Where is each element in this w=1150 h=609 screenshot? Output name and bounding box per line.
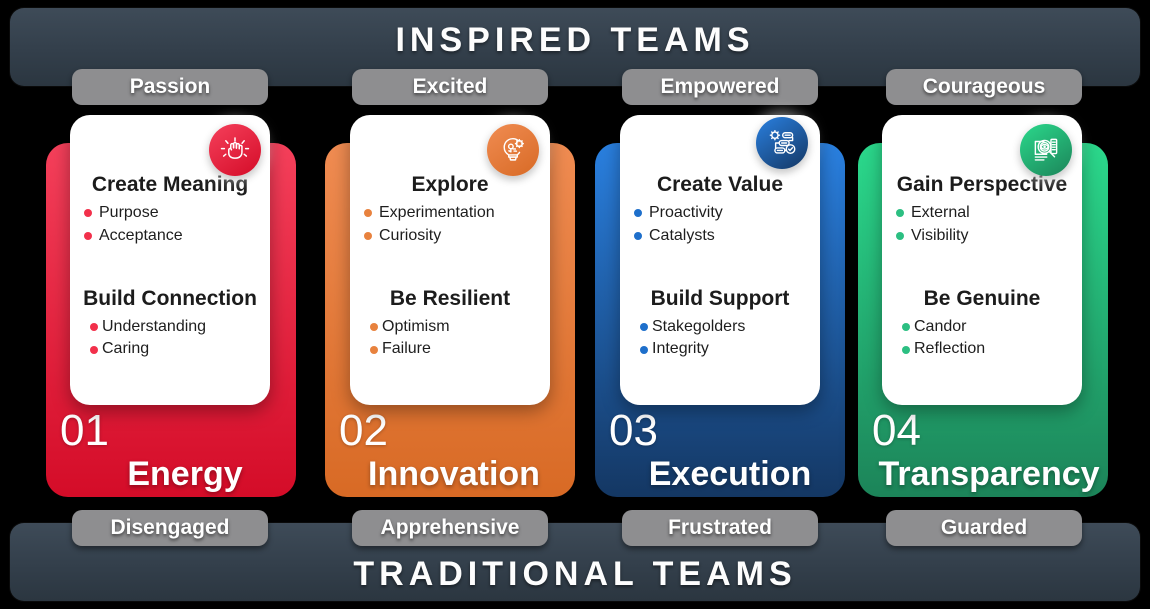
section-heading: Be Genuine bbox=[882, 287, 1082, 310]
top-state-pill: Courageous bbox=[886, 69, 1082, 105]
section-heading: Gain Perspective bbox=[882, 173, 1082, 196]
bullet-label: Understanding bbox=[102, 316, 206, 339]
bullet-item: Understanding bbox=[70, 316, 270, 339]
bottom-state-pill: Guarded bbox=[886, 510, 1082, 546]
bullet-item: Catalysts bbox=[620, 225, 820, 248]
bullet-item: Stakegolders bbox=[620, 316, 820, 339]
section-bullet-list: OptimismFailure bbox=[350, 316, 550, 361]
section-bullet-list: StakegoldersIntegrity bbox=[620, 316, 820, 361]
bullet-label: Proactivity bbox=[649, 202, 723, 225]
bullet-label: Stakegolders bbox=[652, 316, 745, 339]
bullet-item: Acceptance bbox=[70, 225, 270, 248]
bottom-state-pill: Disengaged bbox=[72, 510, 268, 546]
top-state-pill: Passion bbox=[72, 69, 268, 105]
bullet-dot-icon bbox=[90, 346, 98, 354]
bullet-dot-icon bbox=[902, 346, 910, 354]
card-number: 03 bbox=[609, 409, 658, 453]
card-number: 01 bbox=[60, 409, 109, 453]
section-bullet-list: CandorReflection bbox=[882, 316, 1082, 361]
bullet-label: Optimism bbox=[382, 316, 450, 339]
bullet-item: External bbox=[882, 202, 1082, 225]
infographic-canvas: INSPIRED TEAMS TRADITIONAL TEAMS Passion… bbox=[0, 0, 1150, 609]
bullet-label: Reflection bbox=[914, 338, 985, 361]
bullet-item: Purpose bbox=[70, 202, 270, 225]
bullet-dot-icon bbox=[364, 232, 372, 240]
bullet-label: Curiosity bbox=[379, 225, 441, 248]
bullet-label: Purpose bbox=[99, 202, 159, 225]
bullet-label: Catalysts bbox=[649, 225, 715, 248]
card-title: Execution bbox=[605, 457, 845, 493]
section-heading: Create Meaning bbox=[70, 173, 270, 196]
card-title: Innovation bbox=[329, 457, 575, 493]
bullet-dot-icon bbox=[634, 209, 642, 217]
section-heading: Create Value bbox=[620, 173, 820, 196]
top-state-pill: Excited bbox=[352, 69, 548, 105]
bullet-label: Caring bbox=[102, 338, 149, 361]
bullet-label: Integrity bbox=[652, 338, 709, 361]
card-number: 04 bbox=[872, 409, 921, 453]
bullet-label: External bbox=[911, 202, 970, 225]
bullet-item: Candor bbox=[882, 316, 1082, 339]
bullet-dot-icon bbox=[370, 323, 378, 331]
top-state-pill: Empowered bbox=[622, 69, 818, 105]
section-heading: Build Connection bbox=[70, 287, 270, 310]
bullet-dot-icon bbox=[84, 209, 92, 217]
inspired-teams-title: INSPIRED TEAMS bbox=[10, 21, 1140, 60]
bullet-label: Failure bbox=[382, 338, 431, 361]
section-bullet-list: ExternalVisibility bbox=[882, 202, 1082, 247]
bottom-state-pill: Frustrated bbox=[622, 510, 818, 546]
bullet-dot-icon bbox=[896, 209, 904, 217]
workflow-gear-check-icon bbox=[756, 117, 808, 169]
bullet-dot-icon bbox=[90, 323, 98, 331]
traditional-teams-title: TRADITIONAL TEAMS bbox=[10, 555, 1140, 594]
bullet-dot-icon bbox=[364, 209, 372, 217]
bullet-item: Failure bbox=[350, 338, 550, 361]
bullet-dot-icon bbox=[370, 346, 378, 354]
bullet-label: Candor bbox=[914, 316, 966, 339]
bullet-dot-icon bbox=[84, 232, 92, 240]
bullet-item: Optimism bbox=[350, 316, 550, 339]
magnifier-eye-document-icon bbox=[1020, 124, 1072, 176]
bullet-item: Proactivity bbox=[620, 202, 820, 225]
bullet-dot-icon bbox=[634, 232, 642, 240]
section-bullet-list: ExperimentationCuriosity bbox=[350, 202, 550, 247]
bullet-dot-icon bbox=[640, 346, 648, 354]
bullet-item: Reflection bbox=[882, 338, 1082, 361]
raised-fist-icon bbox=[209, 124, 261, 176]
section-heading: Build Support bbox=[620, 287, 820, 310]
bullet-label: Visibility bbox=[911, 225, 969, 248]
bullet-dot-icon bbox=[640, 323, 648, 331]
bullet-item: Experimentation bbox=[350, 202, 550, 225]
card-title: Energy bbox=[60, 457, 296, 493]
bullet-item: Curiosity bbox=[350, 225, 550, 248]
bullet-dot-icon bbox=[896, 232, 904, 240]
section-bullet-list: PurposeAcceptance bbox=[70, 202, 270, 247]
section-heading: Explore bbox=[350, 173, 550, 196]
card-number: 02 bbox=[339, 409, 388, 453]
bullet-label: Acceptance bbox=[99, 225, 183, 248]
section-bullet-list: ProactivityCatalysts bbox=[620, 202, 820, 247]
card-title: Transparency bbox=[864, 457, 1108, 493]
bullet-item: Integrity bbox=[620, 338, 820, 361]
bullet-item: Caring bbox=[70, 338, 270, 361]
bullet-item: Visibility bbox=[882, 225, 1082, 248]
bottom-state-pill: Apprehensive bbox=[352, 510, 548, 546]
bullet-label: Experimentation bbox=[379, 202, 495, 225]
section-bullet-list: UnderstandingCaring bbox=[70, 316, 270, 361]
section-heading: Be Resilient bbox=[350, 287, 550, 310]
bullet-dot-icon bbox=[902, 323, 910, 331]
lightbulb-gears-icon bbox=[487, 124, 539, 176]
